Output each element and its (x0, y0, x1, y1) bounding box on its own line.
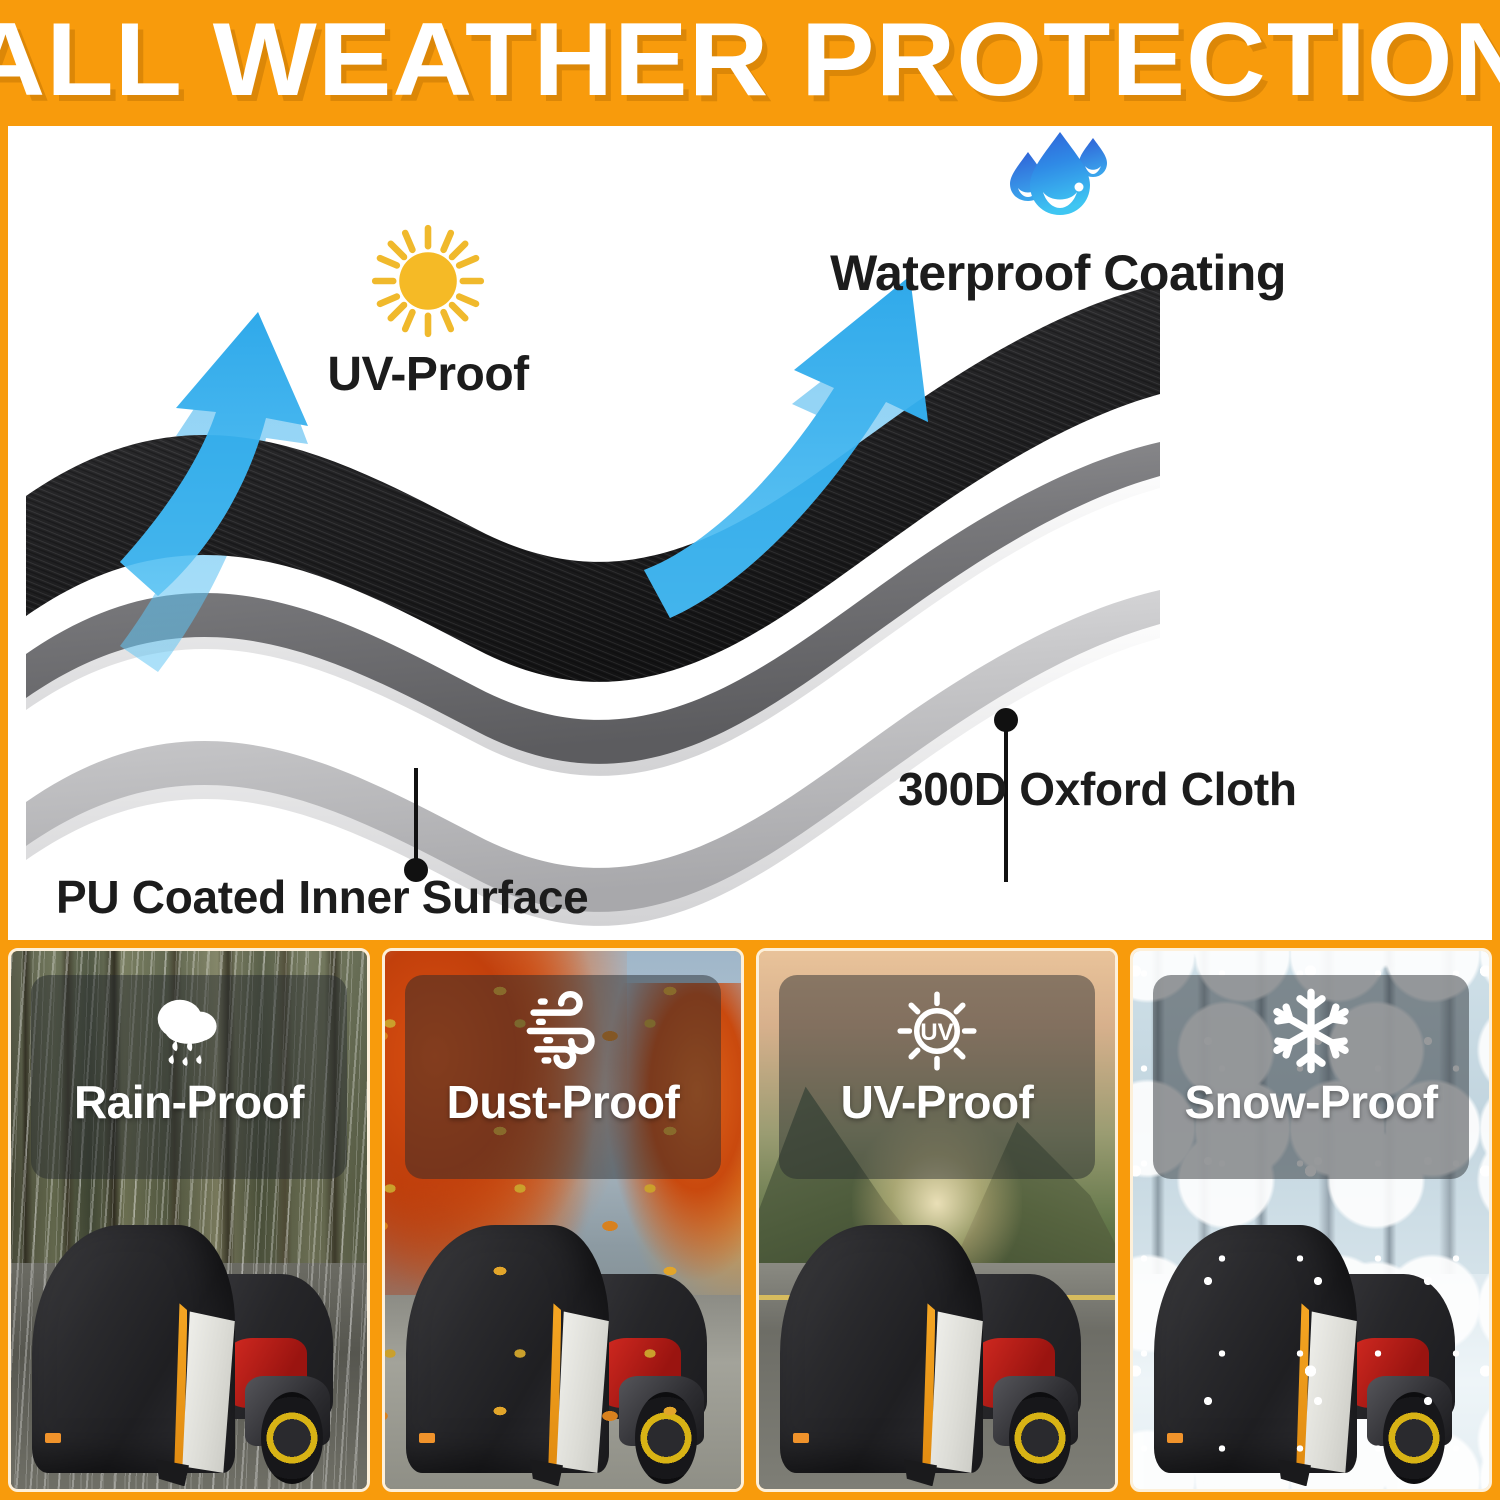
covered-motorcycle (25, 1209, 353, 1478)
header-banner: ALL WEATHER PROTECTION (0, 0, 1500, 126)
sun-icon (368, 221, 488, 341)
infographic-root: ALL WEATHER PROTECTION (0, 0, 1500, 1500)
waterproof-coating-callout: Waterproof Coating (748, 126, 1368, 302)
page-title: ALL WEATHER PROTECTION (0, 8, 1500, 118)
badge-dust-proof: Dust-Proof (405, 975, 722, 1179)
panel-dust-proof[interactable]: Dust-Proof (382, 948, 744, 1492)
panel-rain-proof[interactable]: Rain-Proof (8, 948, 370, 1492)
fabric-layers-diagram: UV-Proof (8, 126, 1492, 940)
badge-label: Dust-Proof (447, 1079, 680, 1125)
badge-uv-proof: UV UV-Proof (779, 975, 1096, 1179)
svg-text:UV: UV (920, 1019, 953, 1046)
oxford-cloth-label: 300D Oxford Cloth (898, 762, 1297, 816)
badge-label: UV-Proof (841, 1079, 1034, 1125)
panel-snow-proof[interactable]: Snow-Proof (1130, 948, 1492, 1492)
snowflake-icon (1265, 985, 1357, 1077)
uv-proof-callout: UV-Proof (258, 221, 598, 402)
pu-coated-label: PU Coated Inner Surface (56, 870, 588, 924)
waterproof-coating-label: Waterproof Coating (748, 244, 1368, 302)
water-drops-icon (998, 126, 1118, 242)
badge-label: Rain-Proof (74, 1079, 304, 1125)
uv-sun-icon: UV (891, 985, 983, 1077)
badge-snow-proof: Snow-Proof (1153, 975, 1470, 1179)
feature-panels-strip: Rain-Proof (0, 948, 1500, 1500)
badge-rain-proof: Rain-Proof (31, 975, 348, 1179)
panel-uv-proof[interactable]: UV UV-Proof (756, 948, 1118, 1492)
uv-proof-label: UV-Proof (258, 347, 598, 402)
rain-cloud-icon (143, 985, 235, 1077)
wind-icon (517, 985, 609, 1077)
covered-motorcycle (773, 1209, 1101, 1478)
badge-label: Snow-Proof (1184, 1079, 1437, 1125)
